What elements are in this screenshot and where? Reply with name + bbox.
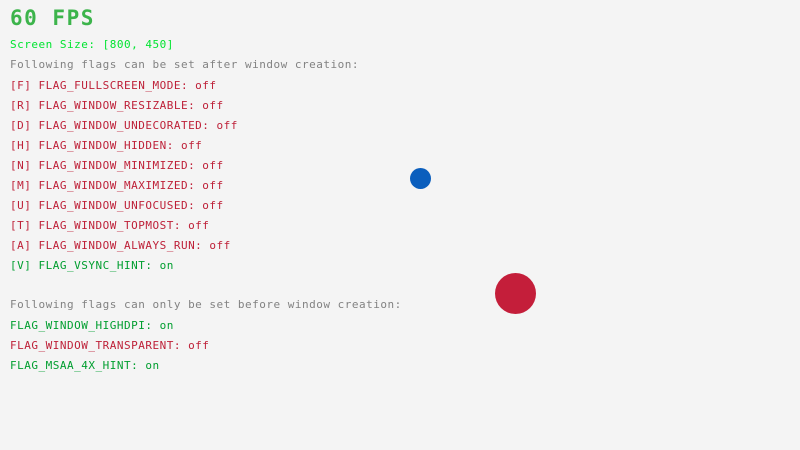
blue-circle-icon [410,168,431,189]
section-note-before-creation: Following flags can only be set before w… [10,299,402,310]
flag-row-window-minimized[interactable]: [N] FLAG_WINDOW_MINIMIZED: off [10,160,224,171]
flag-row-window-resizable[interactable]: [R] FLAG_WINDOW_RESIZABLE: off [10,100,224,111]
section-note-after-creation: Following flags can be set after window … [10,59,359,70]
flag-row-window-always-run[interactable]: [A] FLAG_WINDOW_ALWAYS_RUN: off [10,240,231,251]
flag-row-window-unfocused[interactable]: [U] FLAG_WINDOW_UNFOCUSED: off [10,200,224,211]
red-circle-icon [495,273,536,314]
flag-row-window-undecorated[interactable]: [D] FLAG_WINDOW_UNDECORATED: off [10,120,238,131]
screen-size-label: Screen Size: [800, 450] [10,39,174,50]
flag-row-window-maximized[interactable]: [M] FLAG_WINDOW_MAXIMIZED: off [10,180,224,191]
flag-row-vsync-hint[interactable]: [V] FLAG_VSYNC_HINT: on [10,260,174,271]
fps-counter: 60 FPS [10,8,95,29]
flag-row-window-topmost[interactable]: [T] FLAG_WINDOW_TOPMOST: off [10,220,209,231]
flag-row-window-transparent: FLAG_WINDOW_TRANSPARENT: off [10,340,209,351]
flag-row-fullscreen-mode[interactable]: [F] FLAG_FULLSCREEN_MODE: off [10,80,217,91]
flag-row-window-hidden[interactable]: [H] FLAG_WINDOW_HIDDEN: off [10,140,202,151]
flag-row-msaa-4x-hint: FLAG_MSAA_4X_HINT: on [10,360,160,371]
flag-row-window-highdpi: FLAG_WINDOW_HIGHDPI: on [10,320,174,331]
raylib-window-flags-canvas: 60 FPS Screen Size: [800, 450] Following… [0,0,800,450]
